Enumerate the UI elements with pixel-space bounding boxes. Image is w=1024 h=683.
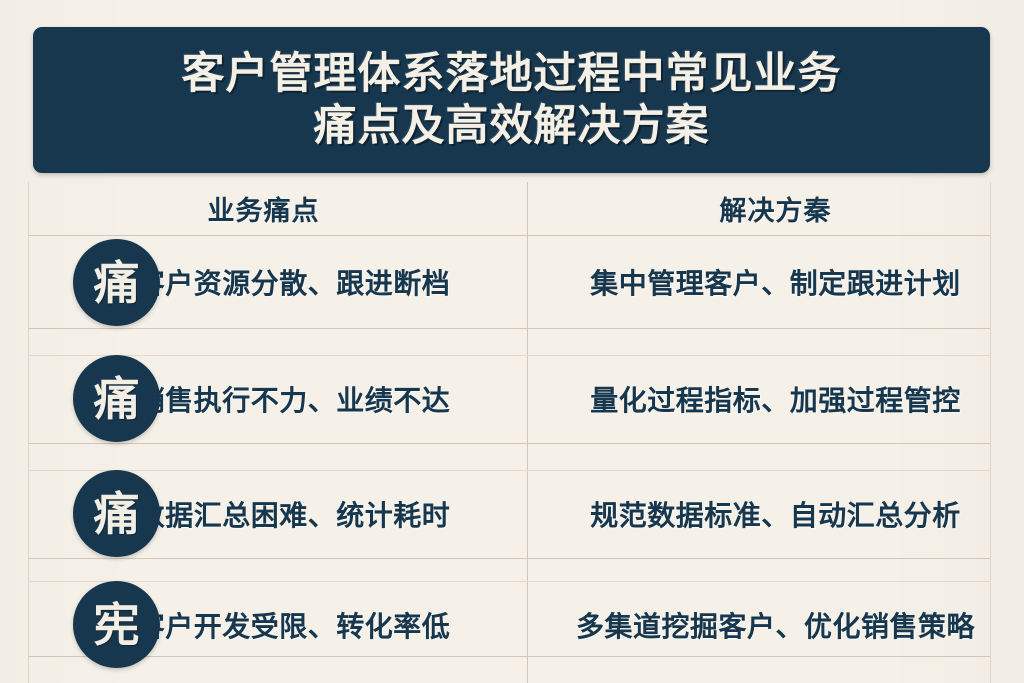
rule-row-3-bottom (28, 558, 990, 559)
row-3-solution-cell: 规范数据标准、自动汇总分析 (527, 470, 1024, 558)
pain-badge-2: 痛 (73, 355, 160, 442)
rule-row-4-bottom (28, 656, 990, 657)
row-4-pain-text: 客户开发受限、转化率低 (137, 605, 451, 645)
pain-point-table: 业务痛点 解决方秦 痛 客户资源分散、跟进断档 集中管理客户、制定跟进计划 痛 (0, 182, 1024, 683)
badge-glyph: 宪 (94, 602, 140, 648)
badge-glyph: 痛 (94, 260, 140, 306)
rule-row-2-bottom (28, 443, 990, 444)
pain-badge-1: 痛 (73, 239, 160, 326)
title-line-1: 客户管理体系落地过程中常见业务 (182, 50, 842, 98)
header-label-solution: 解决方秦 (720, 189, 832, 228)
table-header-row: 业务痛点 解决方秦 (0, 182, 1024, 235)
page-title: 客户管理体系落地过程中常见业务 痛点及高效解决方案 (182, 48, 842, 153)
row-2-solution-cell: 量化过程指标、加强过程管控 (527, 355, 1024, 443)
row-3-pain-text: 数据汇总困难、统计耗时 (137, 494, 451, 534)
row-2-pain-text: 销售执行不力、业绩不达 (137, 379, 451, 419)
title-line-2: 痛点及高效解决方案 (314, 102, 710, 150)
rule-row-1-bottom (28, 328, 990, 329)
infographic-page: 客户管理体系落地过程中常见业务 痛点及高效解决方案 业务痛点 解决方秦 痛 客户… (0, 0, 1024, 683)
row-1-pain-text: 客户资源分散、跟进断档 (137, 262, 451, 302)
title-banner: 客户管理体系落地过程中常见业务 痛点及高效解决方案 (33, 27, 990, 173)
header-label-pain: 业务痛点 (208, 189, 320, 228)
row-3-solution-text: 规范数据标准、自动汇总分析 (590, 494, 961, 534)
pain-badge-4: 宪 (73, 581, 160, 668)
row-4-solution-text: 多集道挖掘客户、优化销售策略 (576, 605, 975, 645)
pain-badge-3: 痛 (73, 470, 160, 557)
header-cell-pain: 业务痛点 (0, 182, 527, 235)
row-1-solution-cell: 集中管理客户、制定跟进计划 (527, 235, 1024, 328)
header-cell-solution: 解决方秦 (527, 182, 1024, 235)
badge-glyph: 痛 (94, 376, 140, 422)
badge-glyph: 痛 (94, 491, 140, 537)
row-1-solution-text: 集中管理客户、制定跟进计划 (590, 262, 961, 302)
row-2-solution-text: 量化过程指标、加强过程管控 (590, 379, 961, 419)
